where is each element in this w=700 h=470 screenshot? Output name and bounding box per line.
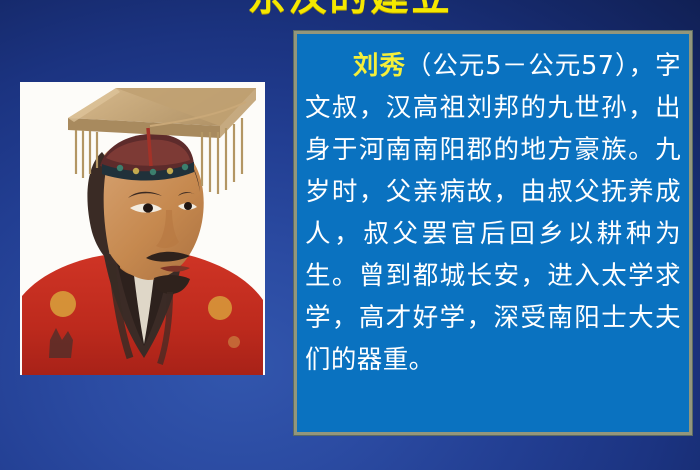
portrait-illustration [20,82,265,375]
page-title: 东汉的建立 [0,0,700,20]
biography-body: （公元5－公元57），字文叔，汉高祖刘邦的九世孙，出身于河南南阳郡的地方豪族。九… [305,51,681,375]
presentation-slide: 东汉的建立 [0,0,700,470]
portrait-image-frame[interactable] [20,82,265,375]
subject-name: 刘秀 [353,51,406,81]
biography-text: 刘秀（公元5－公元57），字文叔，汉高祖刘邦的九世孙，出身于河南南阳郡的地方豪族… [305,45,681,381]
emperor-guangwu-portrait [20,82,265,375]
biography-textbox[interactable]: 刘秀（公元5－公元57），字文叔，汉高祖刘邦的九世孙，出身于河南南阳郡的地方豪族… [294,31,692,435]
